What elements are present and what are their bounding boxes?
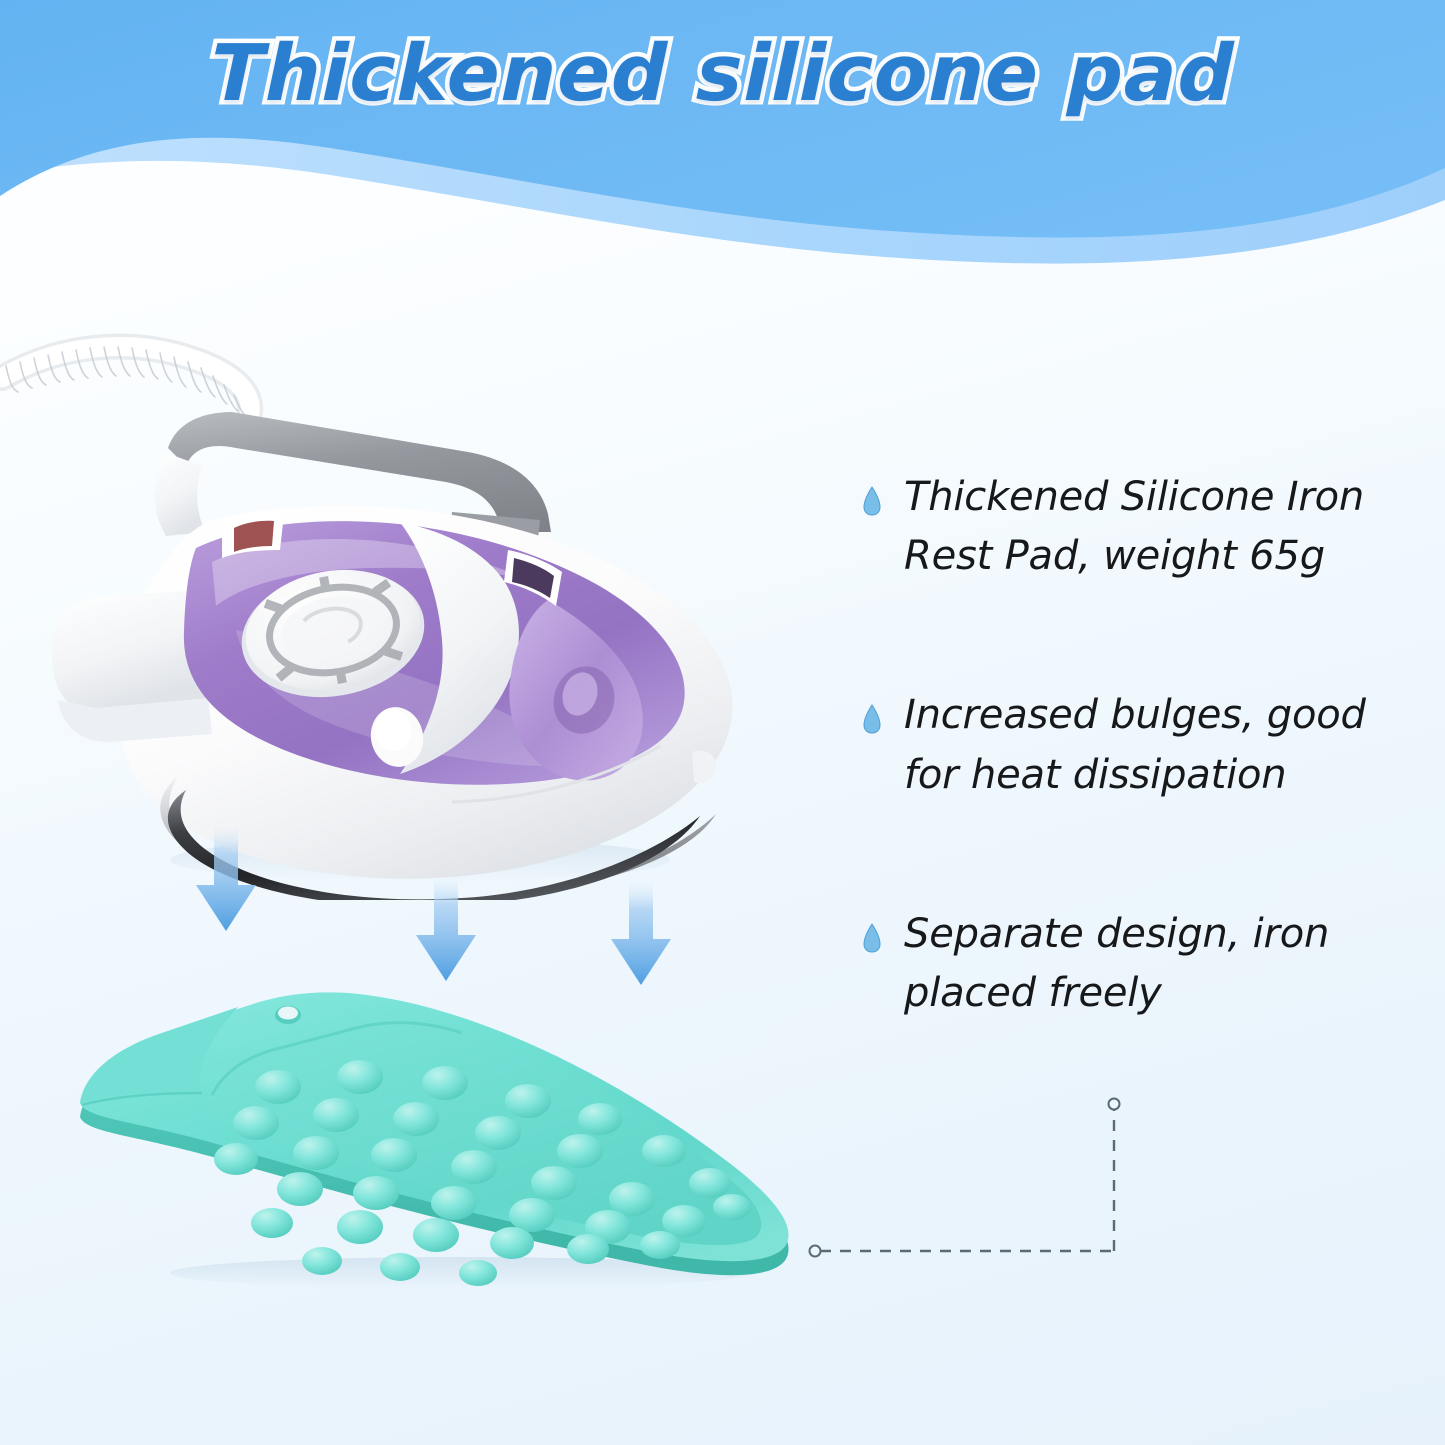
iron-pad-droplet-icon: [862, 486, 882, 516]
feature-text: Thickened Silicone Iron Rest Pad, weight…: [904, 468, 1432, 586]
down-arrow-icon: [196, 825, 256, 931]
infographic-root: Thickened silicone pad: [0, 0, 1445, 1445]
feature-item: Thickened Silicone Iron Rest Pad, weight…: [862, 468, 1432, 586]
feature-item: Increased bulges, good for heat dissipat…: [862, 686, 1432, 804]
callout-endpoint-marker: [810, 1246, 821, 1257]
dimension-callout: [790, 1085, 1150, 1275]
title-container: Thickened silicone pad: [0, 0, 1445, 148]
feature-item: Separate design, iron placed freely: [862, 905, 1432, 1023]
page-title: Thickened silicone pad: [210, 29, 1235, 119]
feature-text: Separate design, iron placed freely: [904, 905, 1432, 1023]
silicone-pad-image: [60, 955, 860, 1295]
callout-endpoint-marker: [1109, 1099, 1120, 1110]
iron-pad-droplet-icon: [862, 923, 882, 953]
feature-list: Thickened Silicone Iron Rest Pad, weight…: [862, 468, 1432, 1023]
iron-pad-droplet-icon: [862, 704, 882, 734]
header-banner: Thickened silicone pad: [0, 0, 1445, 270]
steam-iron-image: [0, 300, 800, 900]
power-cord-icon: [2, 347, 250, 418]
feature-text: Increased bulges, good for heat dissipat…: [904, 686, 1432, 804]
